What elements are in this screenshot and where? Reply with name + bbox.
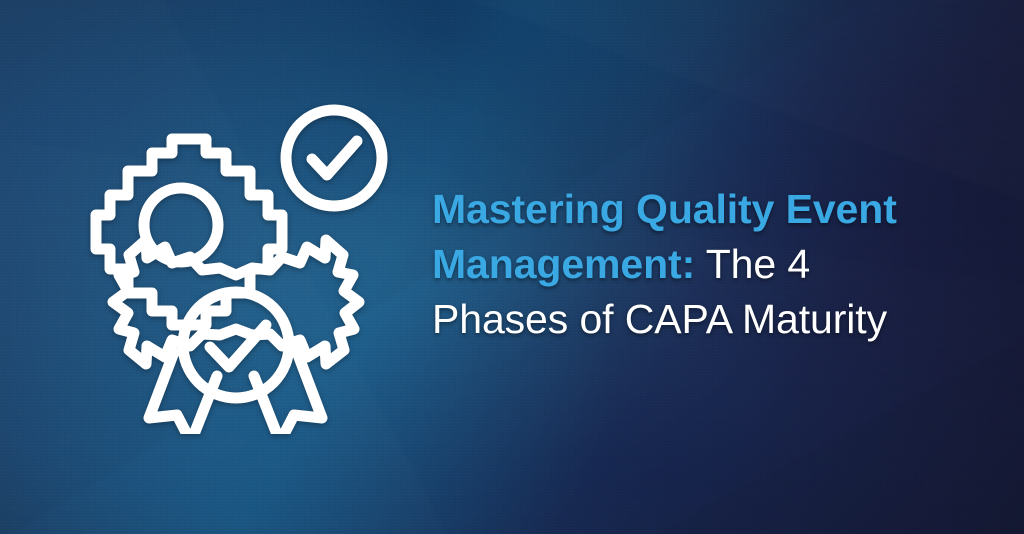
headline-line-2: Management: The 4 [432, 237, 960, 292]
hero-banner: Mastering Quality Event Management: The … [0, 0, 1024, 534]
quality-award-icon [62, 98, 402, 434]
check-circle-icon [286, 110, 382, 206]
headline-accent-1: Mastering Quality Event [432, 186, 897, 232]
headline-line-1: Mastering Quality Event [432, 182, 960, 237]
award-ribbon-icon [113, 240, 359, 434]
headline-accent-2: Management: [432, 241, 695, 287]
headline-plain-2: The 4 [695, 241, 810, 287]
headline-plain-3: Phases of CAPA Maturity [432, 296, 887, 342]
headline-line-3: Phases of CAPA Maturity [432, 292, 960, 347]
page-title: Mastering Quality Event Management: The … [432, 182, 960, 347]
